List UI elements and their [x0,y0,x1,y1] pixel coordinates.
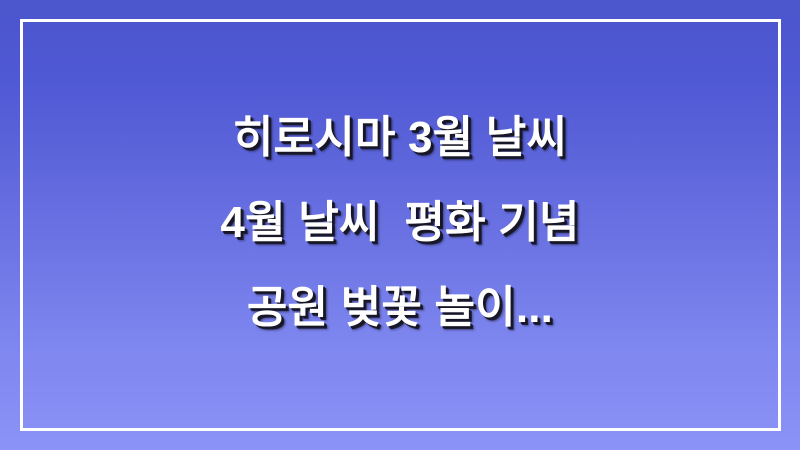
headline-line-1: 히로시마 3월 날씨 [220,95,579,180]
headline-line-3: 공원 벚꽃 놀이... [220,265,579,350]
thumbnail-canvas: 히로시마 3월 날씨 4월 날씨 평화 기념 공원 벚꽃 놀이... [0,0,800,450]
headline-lines: 히로시마 3월 날씨 4월 날씨 평화 기념 공원 벚꽃 놀이... [220,95,579,350]
headline-block: 히로시마 3월 날씨 4월 날씨 평화 기념 공원 벚꽃 놀이... [0,0,800,450]
headline-line-2: 4월 날씨 평화 기념 [220,180,579,265]
